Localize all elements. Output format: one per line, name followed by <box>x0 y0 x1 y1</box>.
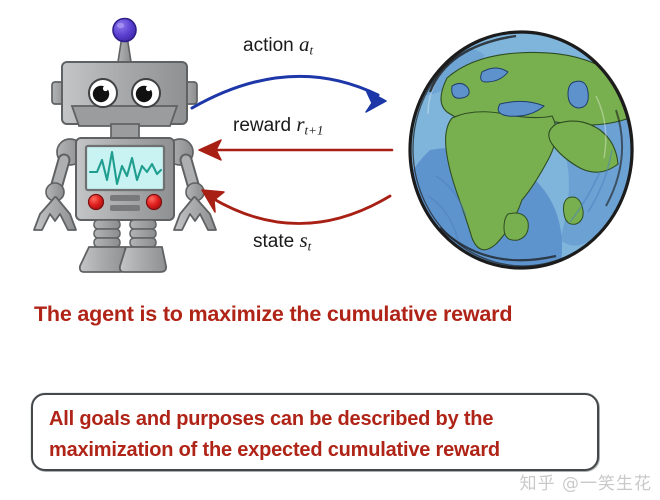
arrow-label-action-subscript: t <box>309 43 313 58</box>
earth-globe <box>397 32 633 290</box>
robot-arm-left <box>34 160 76 230</box>
callout-text: All goals and purposes can be described … <box>49 404 594 466</box>
arrow-label-action: action at <box>243 34 313 57</box>
robot-torso <box>76 138 174 220</box>
callout-line-1: All goals and purposes can be described … <box>49 404 594 435</box>
robot-agent <box>34 19 216 273</box>
arrow-action <box>192 76 386 112</box>
robot-leg-right <box>120 220 166 272</box>
arrow-state <box>202 190 390 224</box>
robot-led-right <box>147 195 162 210</box>
arrow-label-state-subscript: t <box>308 239 312 254</box>
arrow-label-reward-word: reward <box>233 115 291 136</box>
watermark: 知乎 @一笑生花 <box>520 469 652 494</box>
callout-line-2: maximization of the expected cumulative … <box>49 435 594 466</box>
arrow-label-state-word: state <box>253 231 294 252</box>
agent-environment-diagram: action at reward rt+1 state st <box>0 0 660 290</box>
arrow-label-state: state st <box>253 230 311 253</box>
robot-head <box>62 62 187 126</box>
arrow-label-reward-subscript: t+1 <box>305 123 324 138</box>
robot-neck <box>111 124 139 138</box>
arrow-label-action-symbol: a <box>299 32 310 56</box>
arrow-label-action-word: action <box>243 35 294 56</box>
arrow-label-reward-symbol: r <box>296 112 304 136</box>
robot-antenna <box>113 19 136 63</box>
headline-text: The agent is to maximize the cumulative … <box>34 303 634 327</box>
arrow-label-reward: reward rt+1 <box>233 114 323 137</box>
robot-eye-left <box>89 79 117 107</box>
slide-canvas: action at reward rt+1 state st The agent… <box>0 0 660 500</box>
robot-eye-right <box>132 79 160 107</box>
arrow-label-state-symbol: s <box>299 228 307 252</box>
robot-led-left <box>89 195 104 210</box>
arrow-reward <box>199 140 392 160</box>
